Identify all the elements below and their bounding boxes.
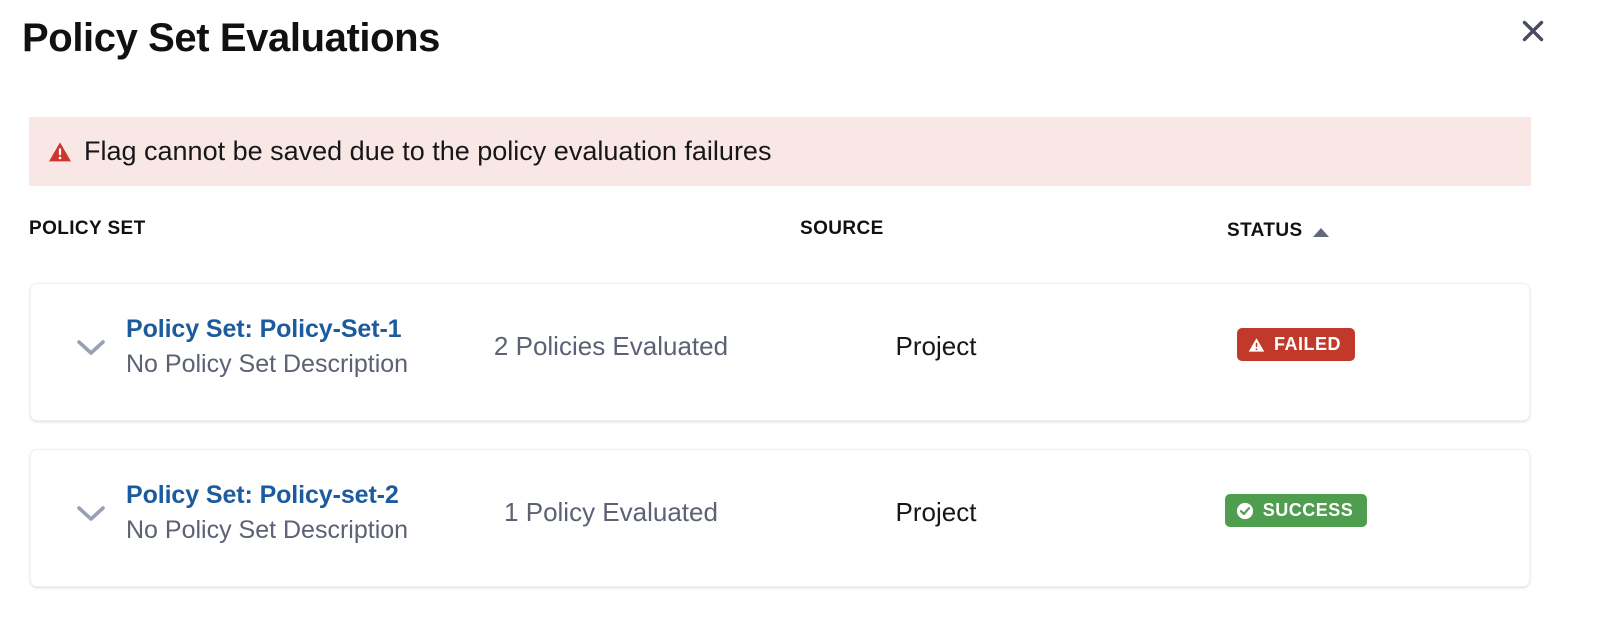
policies-evaluated-count: 1 Policy Evaluated xyxy=(456,497,766,528)
column-header-policy-set[interactable]: POLICY SET xyxy=(29,218,146,240)
policy-set-link[interactable]: Policy Set: Policy-set-2 xyxy=(126,479,456,513)
table-row[interactable]: Policy Set: Policy-set-2 No Policy Set D… xyxy=(30,449,1530,587)
policy-set-name-cell: Policy Set: Policy-Set-1 No Policy Set D… xyxy=(126,313,456,382)
table-header-row: POLICY SET SOURCE STATUS xyxy=(0,218,1600,252)
table-row[interactable]: Policy Set: Policy-Set-1 No Policy Set D… xyxy=(30,283,1530,421)
close-button[interactable] xyxy=(1516,14,1550,48)
alert-message: Flag cannot be saved due to the policy e… xyxy=(84,135,771,167)
row-expand-toggle[interactable] xyxy=(69,494,113,538)
status-cell: SUCCESS xyxy=(1151,494,1441,527)
source-value: Project xyxy=(791,497,1081,528)
policy-set-name-cell: Policy Set: Policy-set-2 No Policy Set D… xyxy=(126,479,456,548)
source-value: Project xyxy=(791,331,1081,362)
warning-triangle-icon xyxy=(48,140,72,164)
status-cell: FAILED xyxy=(1151,328,1441,361)
policy-set-list: Policy Set: Policy-Set-1 No Policy Set D… xyxy=(0,283,1600,615)
status-badge-label: SUCCESS xyxy=(1263,500,1354,521)
chevron-down-icon xyxy=(76,505,106,528)
alert-banner: Flag cannot be saved due to the policy e… xyxy=(29,117,1531,186)
row-expand-toggle[interactable] xyxy=(69,328,113,372)
status-badge: FAILED xyxy=(1237,328,1355,361)
policy-set-description: No Policy Set Description xyxy=(126,514,456,548)
sort-ascending-icon xyxy=(1313,228,1329,237)
column-header-status-label: STATUS xyxy=(1227,220,1303,242)
chevron-down-icon xyxy=(76,339,106,362)
policy-set-link[interactable]: Policy Set: Policy-Set-1 xyxy=(126,313,456,347)
close-icon xyxy=(1520,18,1546,44)
policy-set-description: No Policy Set Description xyxy=(126,348,456,382)
check-circle-icon xyxy=(1236,502,1254,520)
status-badge-label: FAILED xyxy=(1274,334,1341,355)
modal-header: Policy Set Evaluations xyxy=(0,0,1600,92)
column-header-source[interactable]: SOURCE xyxy=(800,218,884,240)
warning-triangle-icon xyxy=(1248,337,1265,353)
column-header-status[interactable]: STATUS xyxy=(1227,220,1329,242)
page-title: Policy Set Evaluations xyxy=(22,14,440,62)
policies-evaluated-count: 2 Policies Evaluated xyxy=(456,331,766,362)
status-badge: SUCCESS xyxy=(1225,494,1368,527)
